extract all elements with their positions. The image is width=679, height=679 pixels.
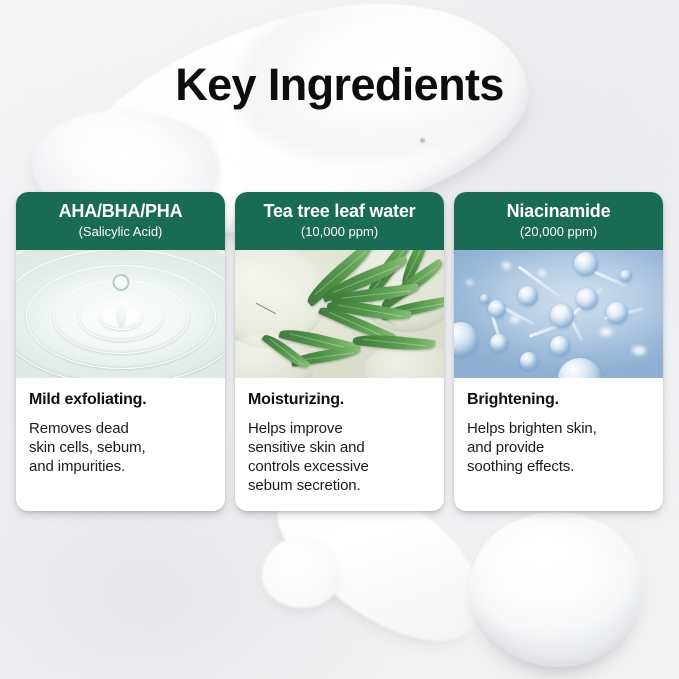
molecule-node-2	[518, 286, 538, 306]
card-header-subtitle: (20,000 ppm)	[462, 223, 655, 240]
ingredient-card-aha-bha-pha: AHA/BHA/PHA (Salicylic Acid) Mild exfoli…	[16, 192, 225, 511]
molecule-node-5	[488, 300, 506, 318]
cream-blob-bottom-center	[262, 536, 340, 608]
card-header-niacinamide: Niacinamide (20,000 ppm)	[454, 192, 663, 250]
card-description: Helps brighten skin, and provide soothin…	[467, 419, 650, 476]
card-benefit-heading: Mild exfoliating.	[29, 390, 212, 410]
card-header-title: Tea tree leaf water	[243, 201, 436, 222]
molecule-node-8	[550, 336, 570, 356]
card-description: Removes dead skin cells, sebum, and impu…	[29, 419, 212, 476]
ingredient-card-niacinamide: Niacinamide (20,000 ppm)	[454, 192, 663, 511]
molecule-sparkle-6	[510, 316, 520, 323]
card-header-subtitle: (10,000 ppm)	[243, 223, 436, 240]
card-description: Helps improve sensitive skin and control…	[248, 419, 431, 495]
molecule-node-4	[550, 304, 574, 328]
cream-droplet-highlight	[512, 535, 570, 565]
molecule-structure-icon	[454, 250, 663, 378]
ingredient-card-row: AHA/BHA/PHA (Salicylic Acid) Mild exfoli…	[16, 192, 663, 511]
molecule-node-1	[574, 252, 598, 276]
ingredient-card-tea-tree-leaf-water: Tea tree leaf water (10,000 ppm)	[235, 192, 444, 511]
molecule-sparkle-1	[502, 262, 511, 269]
card-image-tea-tree-leaves	[235, 250, 444, 378]
card-benefit-heading: Moisturizing.	[248, 390, 431, 410]
molecule-node-3	[576, 288, 598, 310]
molecule-sparkle-5	[466, 280, 473, 285]
card-header-title: AHA/BHA/PHA	[24, 201, 217, 222]
molecule-sparkle-4	[632, 346, 646, 355]
card-header-subtitle: (Salicylic Acid)	[24, 223, 217, 240]
card-header-title: Niacinamide	[462, 201, 655, 222]
card-header-aha-bha-pha: AHA/BHA/PHA (Salicylic Acid)	[16, 192, 225, 250]
water-droplet-icon	[112, 274, 129, 291]
card-body-aha-bha-pha: Mild exfoliating. Removes dead skin cell…	[16, 378, 225, 511]
molecule-node-7	[490, 334, 508, 352]
card-header-tea-tree-leaf-water: Tea tree leaf water (10,000 ppm)	[235, 192, 444, 250]
molecule-node-13	[620, 270, 632, 282]
card-image-water-ripple	[16, 250, 225, 378]
molecule-node-10	[454, 322, 478, 356]
molecule-node-9	[520, 352, 538, 370]
cream-speck-dot	[420, 138, 425, 143]
page-title: Key Ingredients	[0, 58, 679, 112]
molecule-sparkle-2	[600, 328, 612, 336]
card-body-niacinamide: Brightening. Helps brighten skin, and pr…	[454, 378, 663, 511]
molecule-sparkle-3	[538, 270, 546, 276]
molecule-node-6	[606, 302, 628, 324]
molecule-node-12	[480, 294, 490, 304]
water-ripple-icon	[16, 250, 225, 378]
card-benefit-heading: Brightening.	[467, 390, 650, 410]
tea-tree-leaf-icon	[235, 250, 444, 378]
card-image-molecule	[454, 250, 663, 378]
cream-droplet-bottom-right	[470, 512, 642, 667]
card-body-tea-tree-leaf-water: Moisturizing. Helps improve sensitive sk…	[235, 378, 444, 511]
molecule-node-11	[558, 358, 602, 378]
